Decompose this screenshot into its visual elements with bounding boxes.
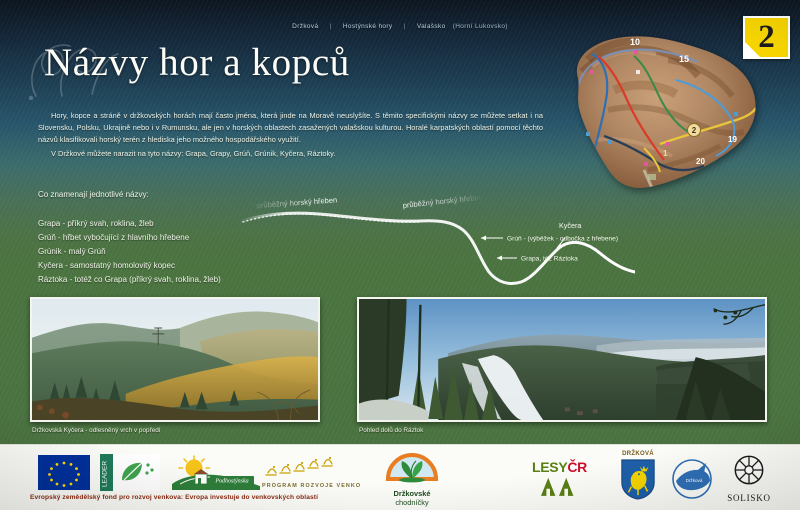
lesycr-label: LESY [532,459,567,475]
ridge-profile-diagram: průběžný horský hřeben průběžný horský h… [235,186,635,286]
page-title: Názvy hor a kopců [44,40,350,85]
photo-drzkovska-kycera [30,297,320,422]
circle-logo-label: Držková [686,478,703,483]
map-marker-1: 1 [663,149,668,158]
leader-label: LEADER [102,461,109,487]
breadcrumb-separator-2: | [404,23,406,30]
diagram-label-kycera: Kyčera [559,221,581,230]
solisko-label: SOLISKO [718,493,780,503]
drzkovske-label-1: Držkovské [372,489,452,498]
drzkovske-label-2: chodníčky [372,498,452,507]
information-board: Držková | Hostýnské hory | Valašsko (Hor… [0,0,800,510]
map-marker-20: 20 [696,157,705,166]
lesycr-accent: ČR [567,459,587,475]
prv-label: PROGRAM ROZVOJE VENKOVA [262,483,360,489]
map-marker-10: 10 [630,37,640,47]
map-marker-15: 15 [679,54,689,64]
intro-paragraph-2: V Držkové můžete narazit na tyto názvy: … [38,148,543,160]
breadcrumb-item-valassko-sub: (Horní Lukovsko) [453,23,508,30]
breadcrumb-item-valassko[interactable]: Valašsko [417,23,446,30]
drzkova-coat-of-arms: DRŽKOVÁ [613,451,663,505]
diagram-label-ridge-second: průběžný horský hřeben [402,193,483,210]
stop-number-badge: 2 [743,16,790,59]
drzkovske-chodnicky-logo: Držkovské chodníčky [372,453,452,501]
program-rozvoje-venkova-logo: PROGRAM ROZVOJE VENKOVA [260,453,360,493]
diagram-label-grapa: Grapa, též Ráztoka [521,256,578,263]
breadcrumb-item-hostynske-hory[interactable]: Hostýnské hory [343,23,393,30]
breadcrumb-separator-1: | [330,23,332,30]
photo-left-caption: Držkovská Kyčera - odlesněný vrch v popř… [32,427,161,434]
map-marker-2: 2 [692,126,697,135]
lesy-cr-logo: LESYČR [532,459,604,501]
map-marker-19: 19 [728,135,737,144]
leader-logo: LEADER [100,454,160,491]
intro-text: Hory, kopce a stráně v držkovských horác… [38,110,543,160]
drzkova-circle-logo: Držková [668,457,716,501]
intro-paragraph-1: Hory, kopce a stráně v držkovských horác… [38,110,543,147]
photo-right-caption: Pohled dolů do Ráztok [359,427,423,434]
footer-logo-strip: LEADER [0,444,800,510]
mas-label: Podhostýnska [214,479,248,485]
solisko-logo: SOLISKO [718,453,780,505]
eu-fund-statement: Evropský zemědělský fond pro rozvoj venk… [30,494,318,501]
breadcrumb-item-drzkova[interactable]: Držková [292,23,318,30]
mas-podhostynska-logo: Podhostýnska [170,454,262,491]
diagram-label-ridge-main: průběžný horský hřeben [257,195,338,210]
badge-number: 2 [758,21,775,54]
page-title-wrap: Názvy hor a kopců [44,40,350,85]
photo-pohled-do-raztok [357,297,767,422]
eu-flag-logo [38,455,90,490]
